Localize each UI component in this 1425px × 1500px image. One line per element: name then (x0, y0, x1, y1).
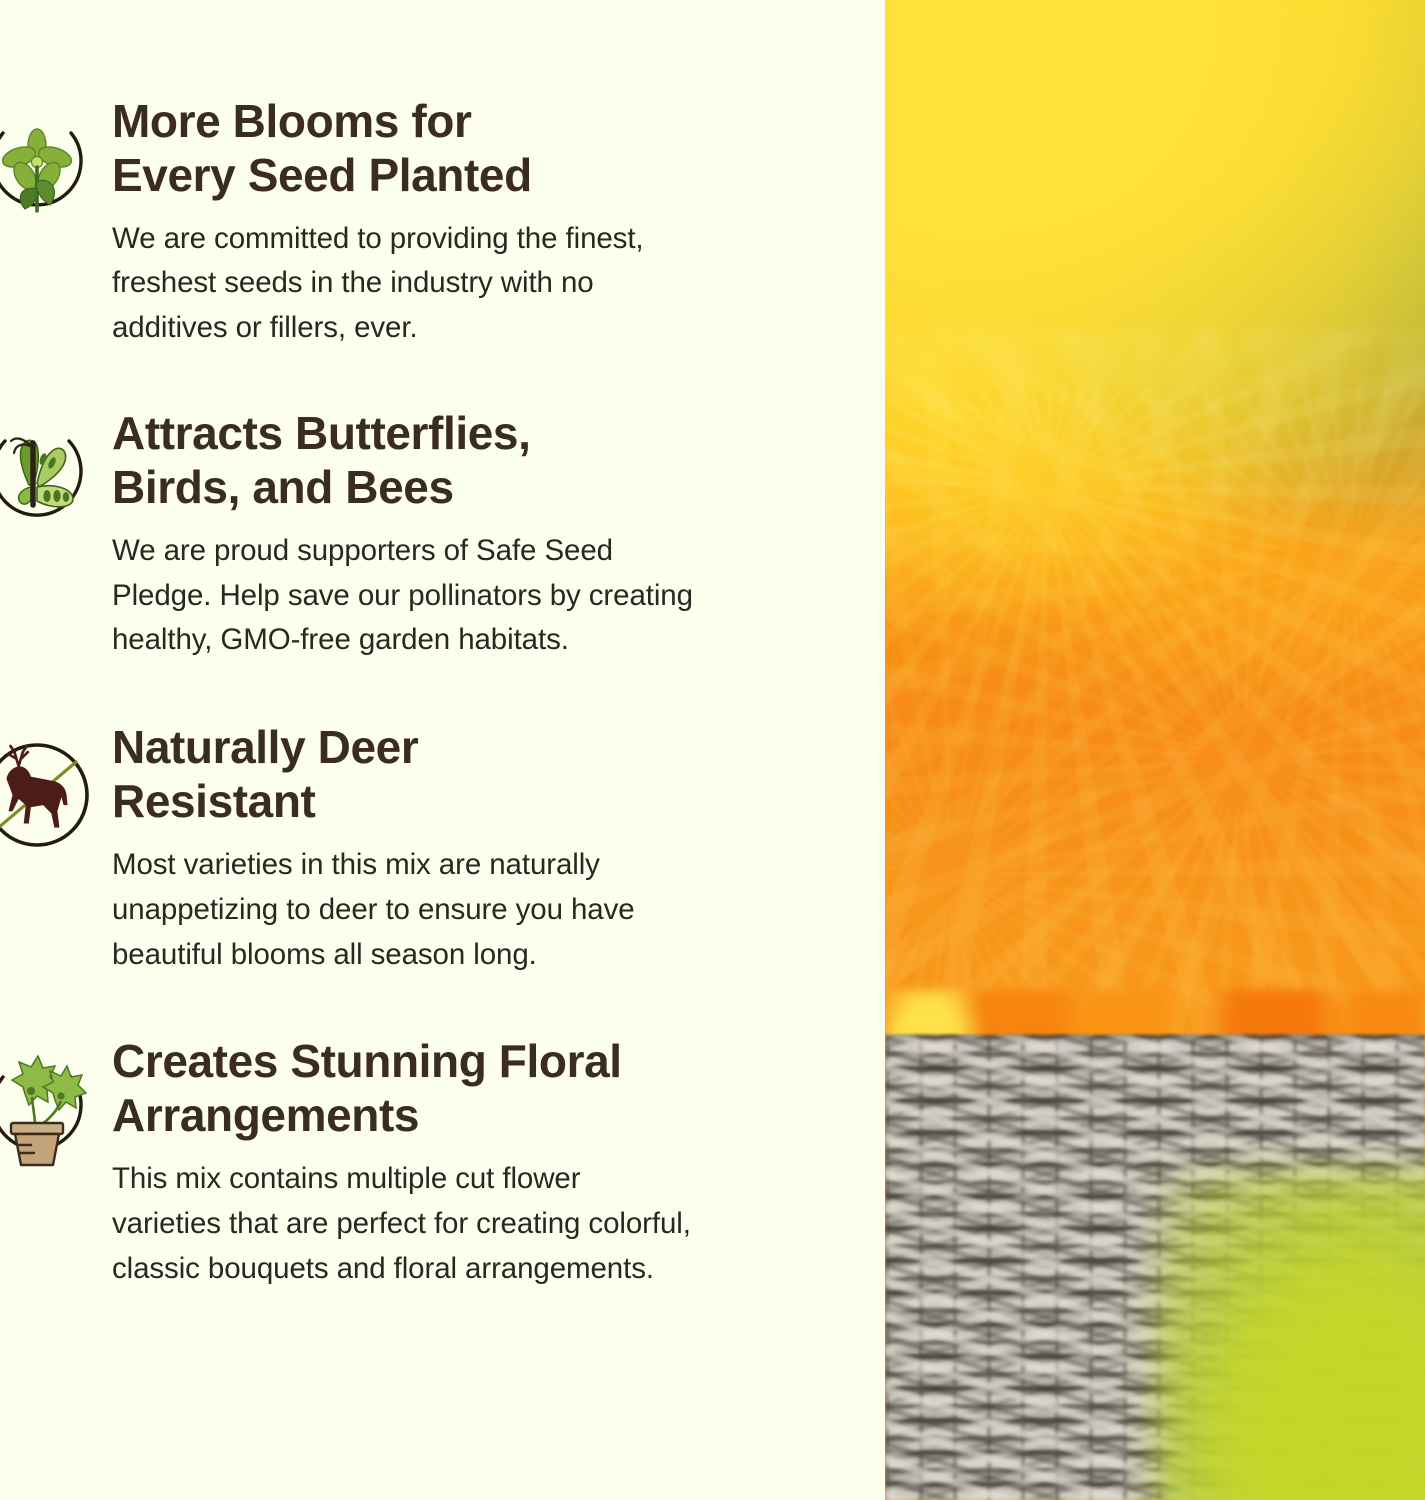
feature-title: Naturally Deer Resistant (112, 721, 845, 829)
feature-title: More Blooms for Every Seed Planted (112, 95, 845, 203)
product-feature-page: More Blooms for Every Seed Planted We ar… (0, 0, 1425, 1500)
feature-description: We are committed to providing the finest… (112, 217, 845, 351)
feature-text: Creates Stunning Floral Arrangements Thi… (112, 1035, 885, 1291)
feature-item: Naturally Deer Resistant Most varieties … (0, 721, 885, 977)
flower-in-circle-icon (0, 95, 112, 239)
feature-description: This mix contains multiple cut flower va… (112, 1157, 845, 1291)
no-deer-in-circle-icon (0, 721, 112, 865)
feature-text: Naturally Deer Resistant Most varieties … (112, 721, 885, 977)
feature-description: We are proud supporters of Safe Seed Ple… (112, 529, 845, 663)
feature-list: More Blooms for Every Seed Planted We ar… (0, 0, 885, 1500)
feature-item: Attracts Butterflies, Birds, and Bees We… (0, 407, 885, 663)
potted-plant-in-circle-icon (0, 1035, 112, 1179)
feature-text: More Blooms for Every Seed Planted We ar… (112, 95, 885, 351)
product-photo (885, 0, 1425, 1500)
feature-item: More Blooms for Every Seed Planted We ar… (0, 95, 885, 351)
photo-grass-blur (1155, 1170, 1425, 1500)
feature-description: Most varieties in this mix are naturally… (112, 843, 845, 977)
feature-text: Attracts Butterflies, Birds, and Bees We… (112, 407, 885, 663)
feature-title: Creates Stunning Floral Arrangements (112, 1035, 845, 1143)
feature-item: Creates Stunning Floral Arrangements Thi… (0, 1035, 885, 1291)
feature-title: Attracts Butterflies, Birds, and Bees (112, 407, 845, 515)
butterfly-in-circle-icon (0, 407, 112, 551)
